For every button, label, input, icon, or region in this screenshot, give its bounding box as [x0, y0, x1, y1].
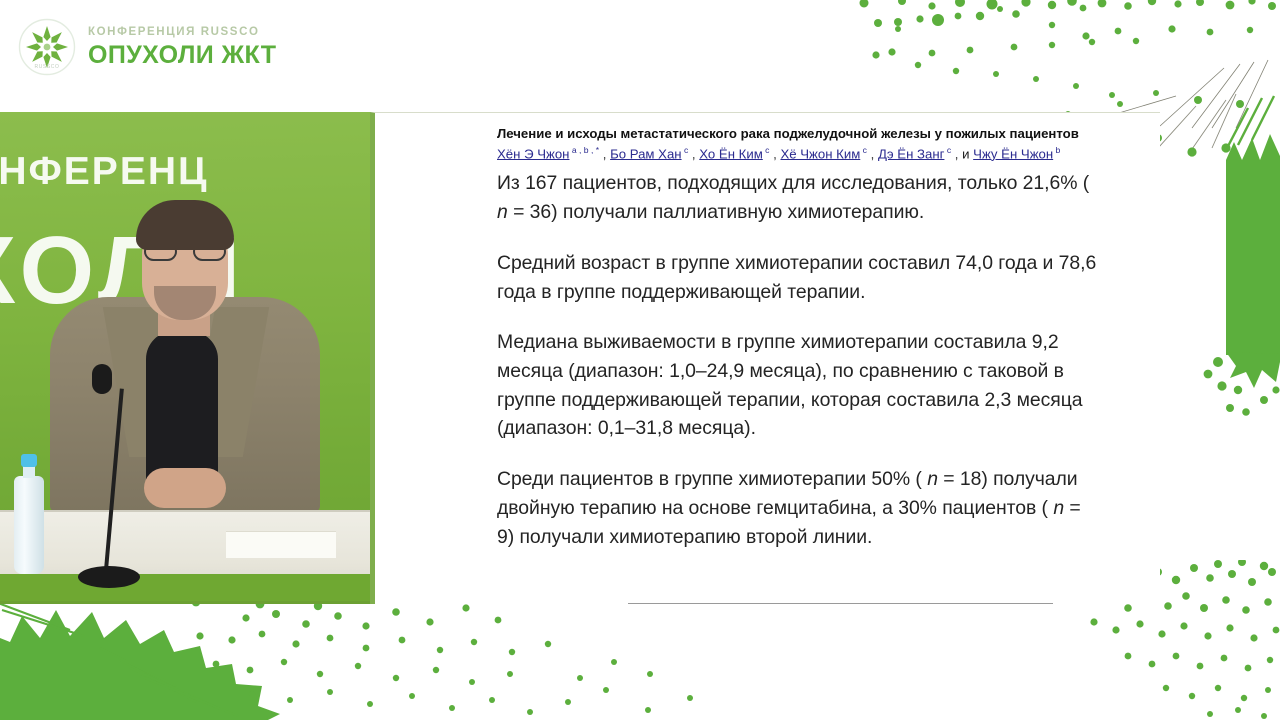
author-separator: , — [951, 146, 962, 161]
author-separator: , — [599, 146, 610, 161]
starburst-logo-icon: RUSSCO — [18, 18, 76, 76]
speaker-person — [50, 182, 320, 512]
water-bottle — [14, 454, 44, 574]
conference-table — [0, 510, 370, 604]
article-text-panel: Лечение и исходы метастатического рака п… — [370, 112, 1160, 604]
article-paragraph: Средний возраст в группе химиотерапии со… — [497, 249, 1097, 306]
author-name[interactable]: Дэ Ён Занг — [878, 146, 944, 161]
logo-kicker: КОНФЕРЕНЦИЯ RUSSCO — [88, 26, 276, 39]
slide-content-area: ОНФЕРЕНЦ ХОЛИ — [0, 112, 1160, 604]
paper-sheet — [226, 531, 336, 558]
article-paragraphs: Из 167 пациентов, подходящих для исследо… — [497, 169, 1108, 551]
author-list: Хён Э Чжон a , b , * , Бо Рам Хан c , Хо… — [497, 145, 1107, 164]
author-affiliation-mark: b — [1053, 145, 1060, 155]
author-separator: , — [688, 146, 699, 161]
slide-header: RUSSCO КОНФЕРЕНЦИЯ RUSSCO ОПУХОЛИ ЖКТ — [0, 0, 840, 110]
svg-text:RUSSCO: RUSSCO — [35, 64, 60, 70]
author-affiliation-mark: a , b , * — [569, 145, 599, 155]
microphone-base — [78, 566, 140, 588]
author-name[interactable]: Хё Чжон Ким — [780, 146, 860, 161]
article-paragraph: Медиана выживаемости в группе химиотерап… — [497, 328, 1097, 443]
slide-root: RUSSCO КОНФЕРЕНЦИЯ RUSSCO ОПУХОЛИ ЖКТ ОН… — [0, 0, 1280, 720]
microphone-icon — [92, 364, 112, 394]
article-paragraph: Из 167 пациентов, подходящих для исследо… — [497, 169, 1097, 226]
author-separator: , — [867, 146, 878, 161]
green-splatter-top-right-decoration — [840, 0, 1280, 130]
logo-title: ОПУХОЛИ ЖКТ — [88, 42, 276, 68]
author-name[interactable]: Бо Рам Хан — [610, 146, 682, 161]
author-name[interactable]: Чжу Ён Чжон — [973, 146, 1053, 161]
author-separator: , — [769, 146, 780, 161]
green-splat-bottom-decoration — [0, 590, 1280, 720]
author-conjunction: и — [962, 146, 973, 161]
slide-bottom-divider — [628, 603, 1053, 604]
slide-bottom-green-bar — [0, 601, 370, 604]
article-title: Лечение и исходы метастатического рака п… — [497, 125, 1097, 143]
speaker-video-panel[interactable]: ОНФЕРЕНЦ ХОЛИ — [0, 112, 370, 604]
author-name[interactable]: Хо Ён Ким — [699, 146, 763, 161]
article-paragraph: Среди пациентов в группе химиотерапии 50… — [497, 465, 1097, 551]
author-affiliation-mark: c — [860, 145, 867, 155]
author-name[interactable]: Хён Э Чжон — [497, 146, 569, 161]
conference-logo: RUSSCO КОНФЕРЕНЦИЯ RUSSCO ОПУХОЛИ ЖКТ — [18, 18, 276, 76]
logo-text-block: КОНФЕРЕНЦИЯ RUSSCO ОПУХОЛИ ЖКТ — [88, 26, 276, 68]
